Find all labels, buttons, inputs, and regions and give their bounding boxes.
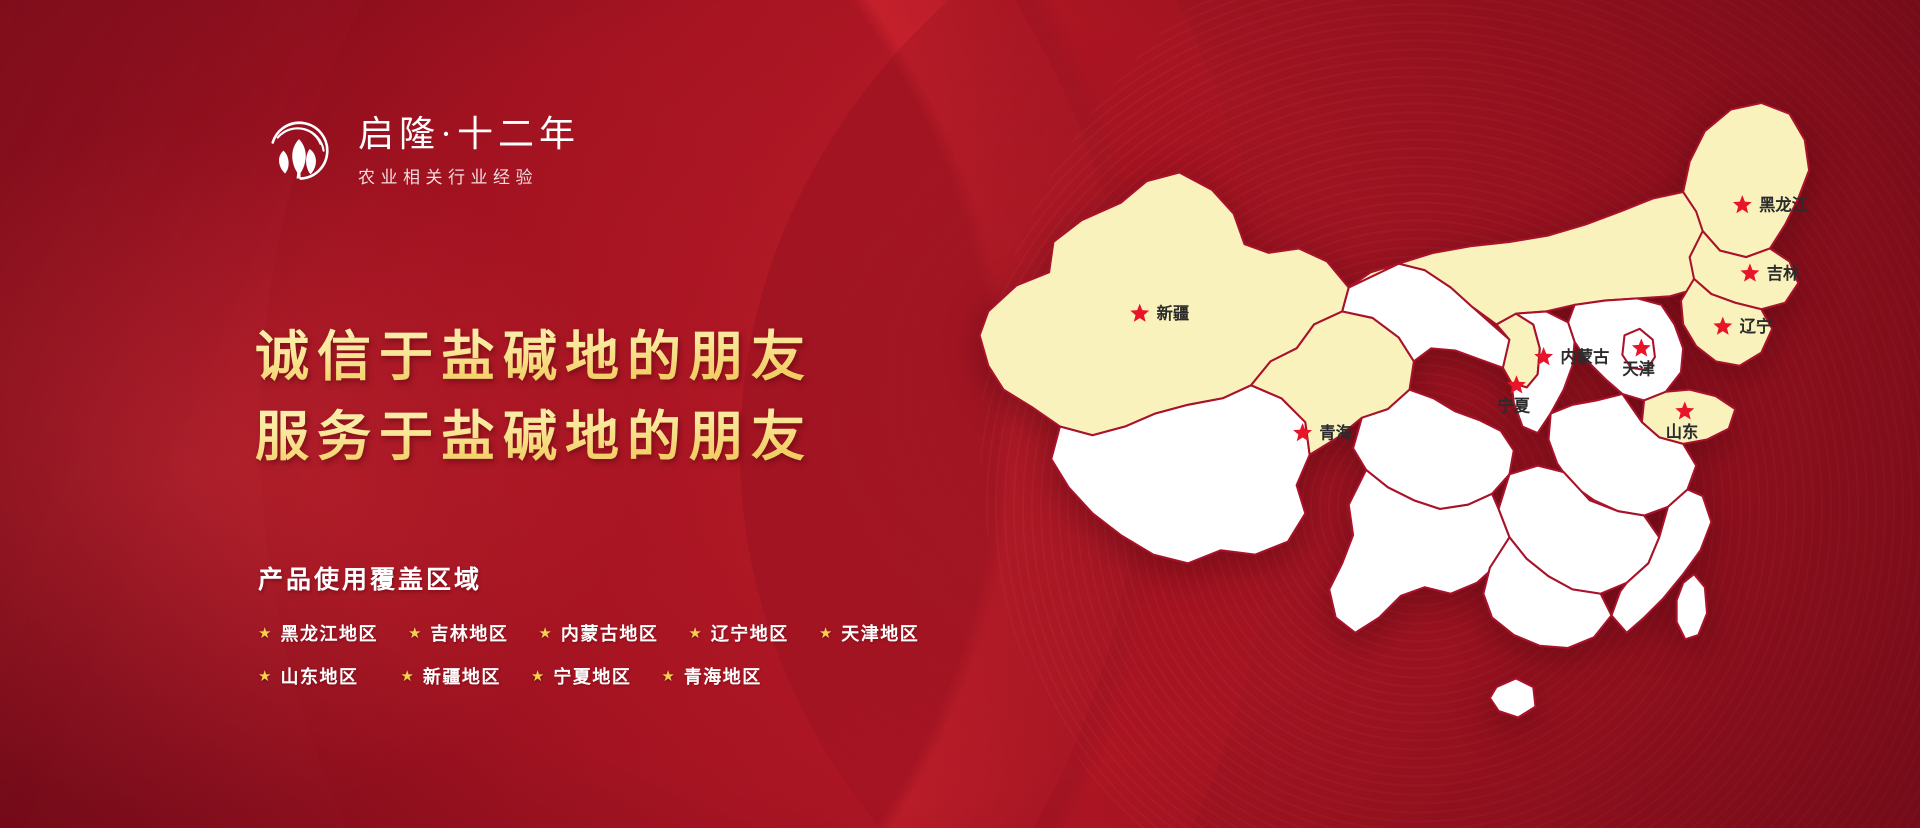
province-taiwan xyxy=(1677,574,1707,639)
map-label: 黑龙江 xyxy=(1759,195,1808,214)
region-item[interactable]: ★ 新疆地区 xyxy=(400,663,500,689)
map-label: 天津 xyxy=(1622,359,1655,378)
star-icon: ★ xyxy=(688,626,701,641)
star-icon: ★ xyxy=(538,626,551,641)
headline-line-1: 诚信于盐碱地的朋友 xyxy=(255,318,813,398)
region-label: 宁夏地区 xyxy=(553,663,631,689)
star-icon: ★ xyxy=(408,626,421,641)
star-icon: ★ xyxy=(819,626,832,641)
region-item[interactable]: ★ 山东地区 xyxy=(258,663,358,689)
map-label: 新疆 xyxy=(1157,304,1190,323)
brand-subtitle: 农业相关行业经验 xyxy=(358,163,580,188)
coverage-title: 产品使用覆盖区域 xyxy=(258,560,919,596)
brand-text: 启隆·十二年 农业相关行业经验 xyxy=(358,108,580,188)
map-label: 山东 xyxy=(1666,422,1699,441)
region-item[interactable]: ★ 辽宁地区 xyxy=(688,620,788,646)
coverage-row-1: ★ 黑龙江地区 ★ 吉林地区 ★ 内蒙古地区 ★ 辽宁地区 xyxy=(258,620,919,646)
star-icon: ★ xyxy=(531,669,544,684)
brand-logo: 启隆·十二年 农业相关行业经验 xyxy=(258,108,580,190)
region-item[interactable]: ★ 内蒙古地区 xyxy=(538,620,658,646)
promo-banner: 启隆·十二年 农业相关行业经验 诚信于盐碱地的朋友 服务于盐碱地的朋友 产品使用… xyxy=(0,0,1920,828)
coverage-row-2: ★ 山东地区 ★ 新疆地区 ★ 宁夏地区 ★ 青海地区 xyxy=(258,663,919,689)
star-icon: ★ xyxy=(661,669,674,684)
coverage-region-rows: ★ 黑龙江地区 ★ 吉林地区 ★ 内蒙古地区 ★ 辽宁地区 xyxy=(258,620,919,689)
coverage-block: 产品使用覆盖区域 ★ 黑龙江地区 ★ 吉林地区 ★ 内蒙古地区 xyxy=(258,560,919,706)
region-item[interactable]: ★ 青海地区 xyxy=(661,663,761,689)
region-item[interactable]: ★ 吉林地区 xyxy=(408,620,508,646)
lotus-leaf-circle-icon xyxy=(258,108,340,190)
region-item[interactable]: ★ 黑龙江地区 xyxy=(258,620,378,646)
region-item[interactable]: ★ 宁夏地区 xyxy=(531,663,631,689)
map-label: 内蒙古 xyxy=(1560,347,1609,366)
star-icon: ★ xyxy=(258,626,271,641)
china-map: 黑龙江 吉林 辽宁 内蒙古 天津 山东 宁夏 新疆 青海 xyxy=(880,40,1900,800)
province-hainan xyxy=(1490,678,1536,717)
region-label: 内蒙古地区 xyxy=(561,620,659,646)
region-label: 辽宁地区 xyxy=(711,620,789,646)
region-label: 黑龙江地区 xyxy=(280,620,378,646)
map-label: 辽宁 xyxy=(1740,317,1773,336)
map-label: 吉林 xyxy=(1767,264,1800,283)
headline-line-2: 服务于盐碱地的朋友 xyxy=(255,398,813,478)
star-icon: ★ xyxy=(400,669,413,684)
region-label: 吉林地区 xyxy=(430,620,508,646)
brand-title: 启隆·十二年 xyxy=(358,114,580,154)
left-content: 启隆·十二年 农业相关行业经验 诚信于盐碱地的朋友 服务于盐碱地的朋友 产品使用… xyxy=(0,0,900,828)
region-label: 青海地区 xyxy=(684,663,762,689)
map-label: 宁夏 xyxy=(1497,396,1530,415)
region-label: 山东地区 xyxy=(280,663,358,689)
star-icon: ★ xyxy=(258,669,271,684)
map-label: 青海 xyxy=(1319,423,1352,442)
region-label: 新疆地区 xyxy=(423,663,501,689)
headline-block: 诚信于盐碱地的朋友 服务于盐碱地的朋友 xyxy=(255,318,813,478)
